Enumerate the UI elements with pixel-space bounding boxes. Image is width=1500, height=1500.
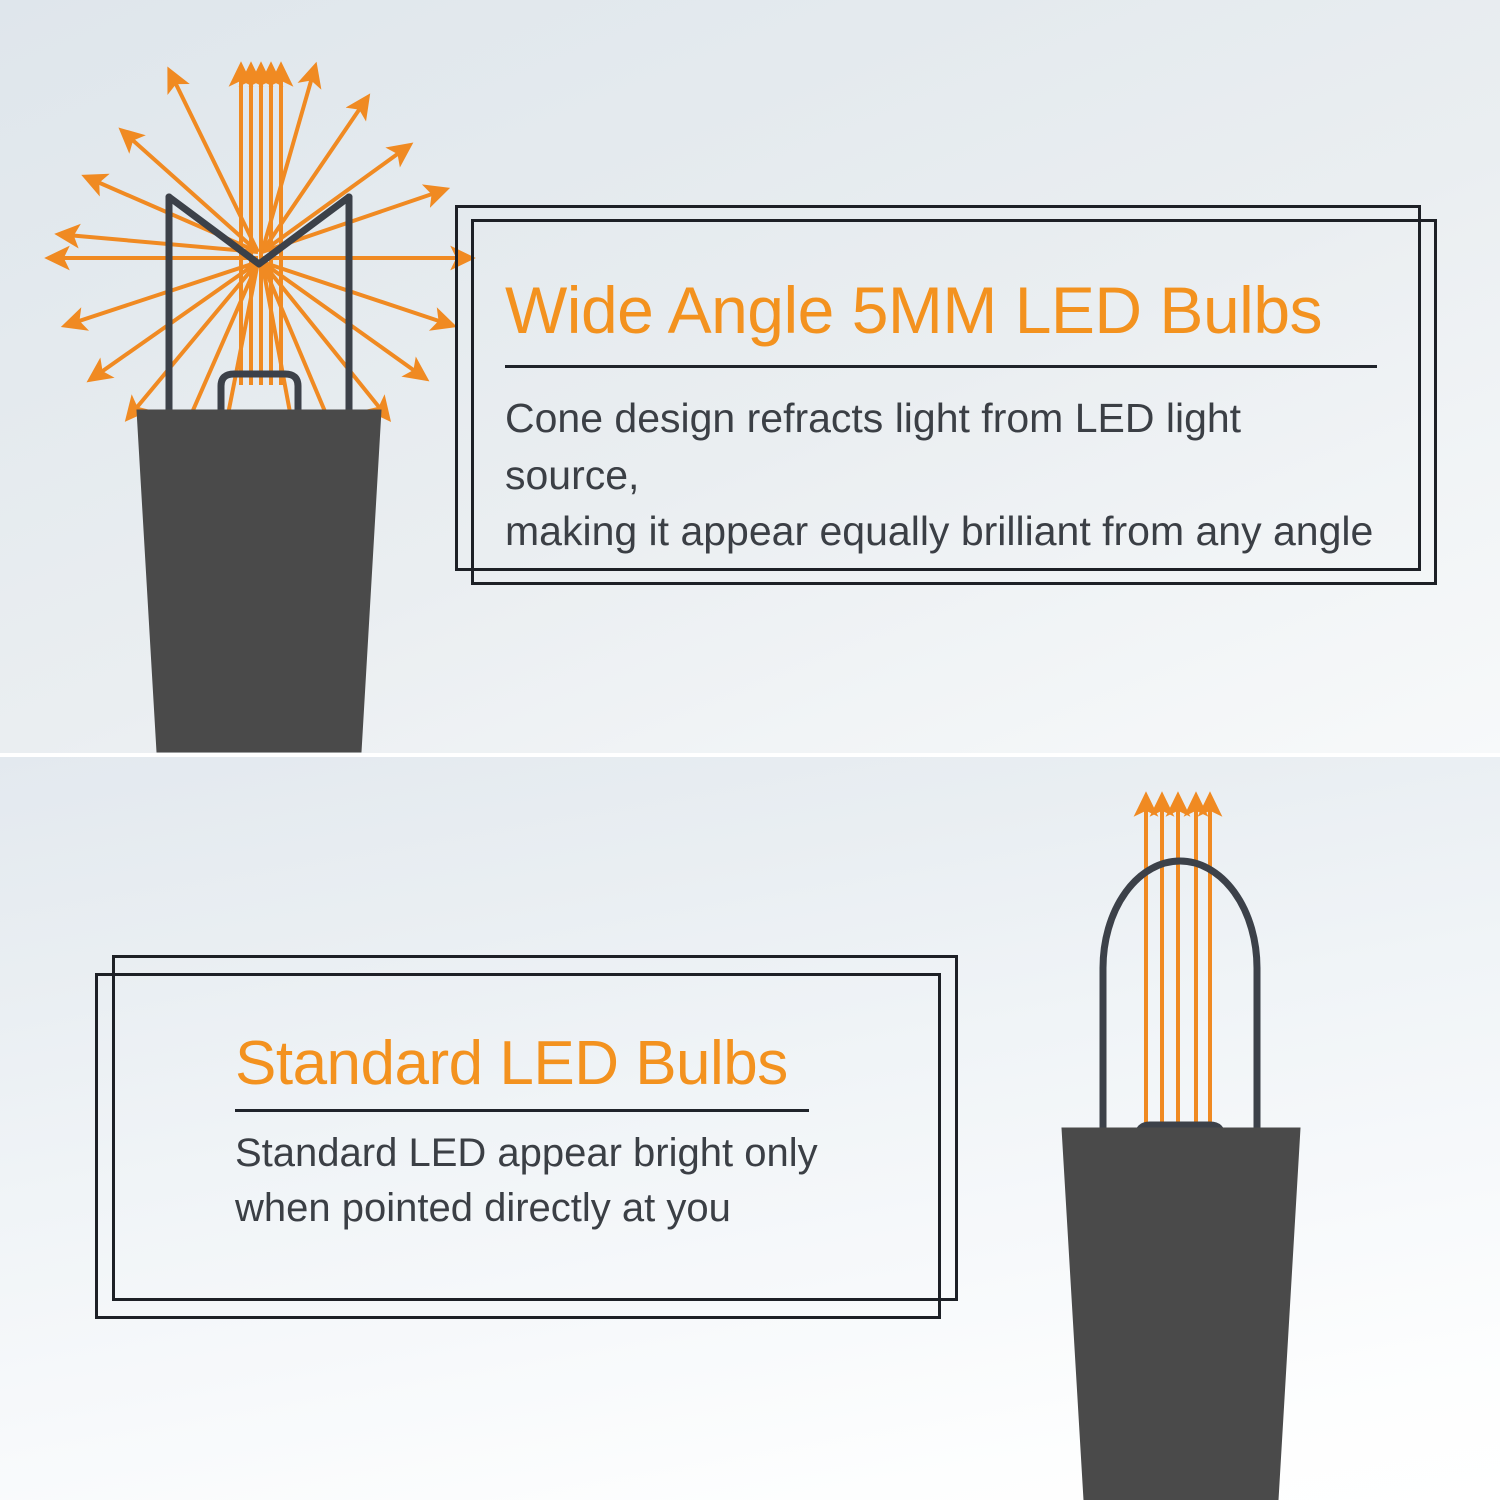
card-content: Standard LED Bulbs Standard LED appear b… <box>235 1033 925 1236</box>
page-title: Wide Angle 5MM LED Bulbs <box>505 277 1385 343</box>
standard-text-card: Standard LED Bulbs Standard LED appear b… <box>95 955 965 1335</box>
page-title: Standard LED Bulbs <box>235 1033 925 1095</box>
title-divider-rule <box>235 1109 809 1112</box>
bulb-base <box>1062 1128 1300 1500</box>
title-divider-rule <box>505 365 1377 368</box>
light-ray-group <box>1146 804 1210 1133</box>
card-description: Cone design refracts light from LED ligh… <box>505 390 1385 560</box>
wide-angle-text-card: Wide Angle 5MM LED Bulbs Cone design ref… <box>455 205 1430 595</box>
panel-standard: Standard LED Bulbs Standard LED appear b… <box>0 757 1500 1500</box>
bulb-base <box>137 410 381 752</box>
standard-led-bulb-diagram <box>1000 770 1420 1500</box>
infographic-canvas: Wide Angle 5MM LED Bulbs Cone design ref… <box>0 0 1500 1500</box>
panel-wide-angle: Wide Angle 5MM LED Bulbs Cone design ref… <box>0 0 1500 755</box>
wide-angle-led-bulb-diagram <box>45 40 475 755</box>
card-description: Standard LED appear bright only when poi… <box>235 1126 925 1236</box>
card-content: Wide Angle 5MM LED Bulbs Cone design ref… <box>505 277 1385 560</box>
